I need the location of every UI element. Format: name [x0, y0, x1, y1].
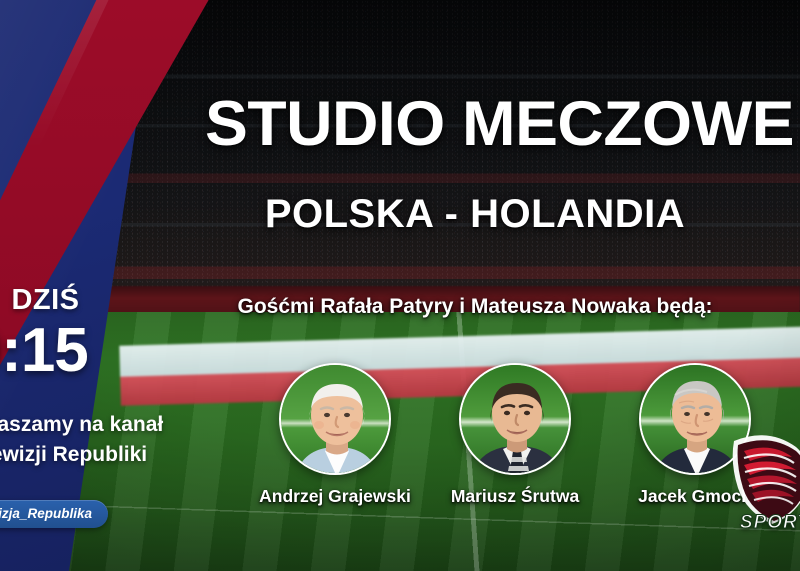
guest-list: Andrzej Grajewski	[255, 363, 775, 507]
portrait-andrzej-grajewski-icon	[281, 365, 389, 473]
sport-wordmark: SPORT	[740, 512, 800, 534]
guest-name: Andrzej Grajewski	[255, 486, 415, 507]
avatar	[459, 363, 571, 475]
panel-text-line-2: Telewizji Republiki	[0, 442, 132, 468]
panel-kicker: DZIŚ	[0, 284, 123, 317]
guest-name: Mariusz Śrutwa	[435, 486, 595, 507]
broadcast-promo-graphic: DZIŚ 20:15 Zapraszamy na kanał Telewizji…	[0, 0, 800, 571]
broadcast-time: 20:15	[0, 318, 96, 383]
guest-item: Andrzej Grajewski	[255, 363, 415, 507]
left-panel-content: DZIŚ 20:15 Zapraszamy na kanał Telewizji…	[0, 0, 155, 571]
portrait-mariusz-srutwa-icon	[461, 365, 569, 473]
panel-text-line-1: Zapraszamy na kanał	[0, 412, 122, 438]
guest-item: Mariusz Śrutwa	[435, 363, 595, 507]
avatar	[279, 363, 391, 475]
page-title: STUDIO MECZOWE	[205, 88, 794, 160]
social-handle-badge[interactable]: @Telewizja_Republika	[0, 500, 108, 528]
